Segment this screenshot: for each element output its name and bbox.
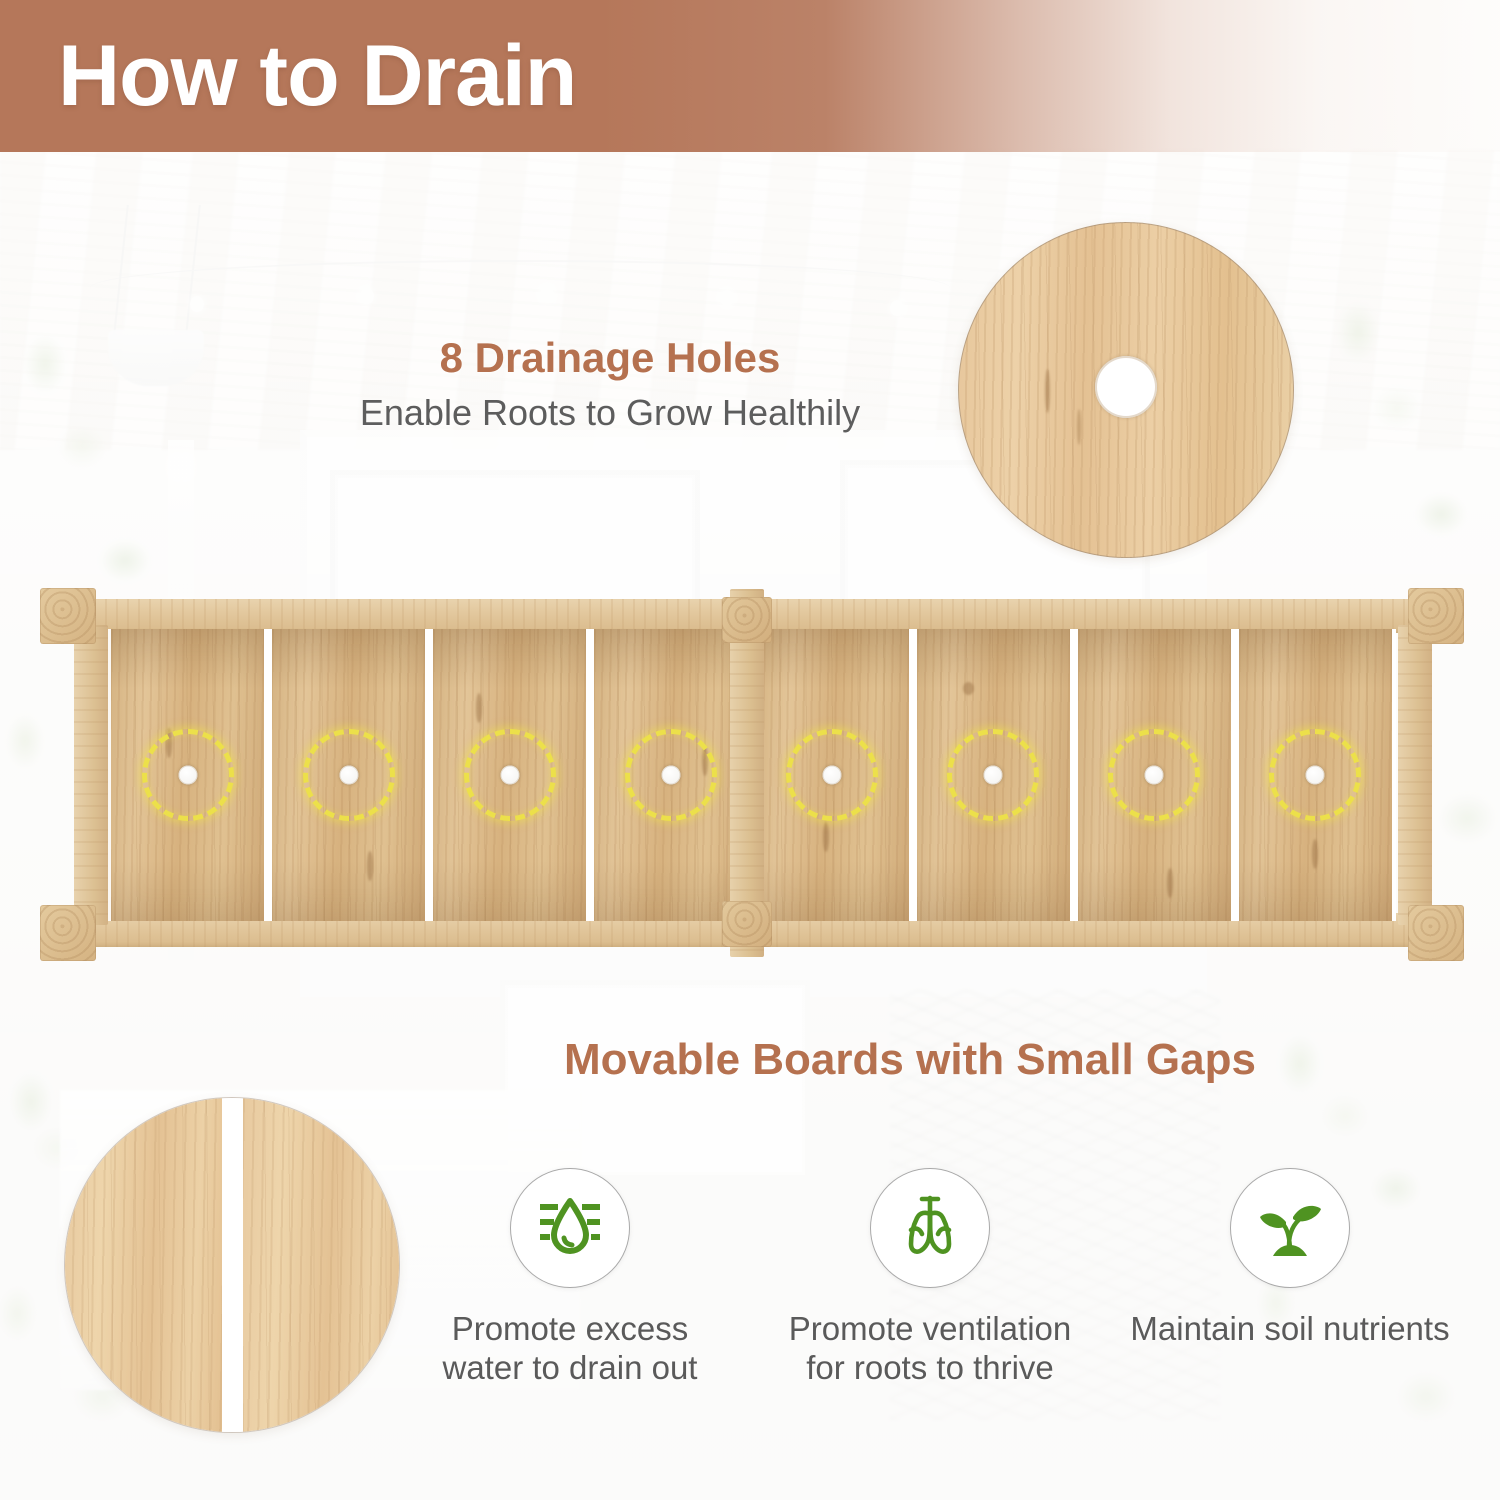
planter-board bbox=[268, 629, 429, 921]
benefit-item-drain: Promote excess water to drain out bbox=[390, 1168, 750, 1388]
planter-corner-post bbox=[40, 588, 96, 644]
drain-hole-marker bbox=[142, 729, 234, 821]
benefit-label-line2: water to drain out bbox=[443, 1349, 698, 1386]
wood-knot bbox=[963, 682, 974, 695]
board-shade bbox=[272, 861, 425, 921]
planter-center-cap bbox=[722, 901, 772, 947]
planter-board bbox=[590, 629, 751, 921]
wood-knot bbox=[367, 851, 373, 881]
page-title: How to Drain bbox=[58, 33, 576, 119]
board-shade bbox=[433, 629, 586, 689]
board-shade bbox=[756, 629, 909, 689]
wood-knot bbox=[1077, 409, 1081, 445]
drainage-subheading: Enable Roots to Grow Healthily bbox=[300, 393, 920, 433]
planter-corner-post bbox=[1408, 905, 1464, 961]
drain-hole-marker bbox=[303, 729, 395, 821]
planter-board bbox=[108, 629, 268, 921]
benefit-item-ventilation: Promote ventilation for roots to thrive bbox=[750, 1168, 1110, 1388]
infographic-page: How to Drain 8 Drainage Holes Enable Roo… bbox=[0, 0, 1500, 1500]
board-shade bbox=[111, 861, 264, 921]
drainage-heading: 8 Drainage Holes bbox=[300, 335, 920, 381]
planter-stile-right bbox=[1398, 625, 1432, 925]
drainage-text-block: 8 Drainage Holes Enable Roots to Grow He… bbox=[300, 335, 920, 433]
drain-hole-marker bbox=[1108, 729, 1200, 821]
planter-board bbox=[1074, 629, 1235, 921]
board-gap-closeup-circle bbox=[64, 1097, 400, 1433]
benefit-label-line2: for roots to thrive bbox=[806, 1349, 1054, 1386]
benefit-label-ventilation: Promote ventilation for roots to thrive bbox=[789, 1310, 1071, 1388]
drain-hole bbox=[1306, 766, 1325, 785]
planter-corner-post bbox=[1408, 588, 1464, 644]
benefit-label-line1: Promote ventilation bbox=[789, 1310, 1071, 1347]
planter-stile-left bbox=[74, 625, 108, 925]
planter-board bbox=[913, 629, 1074, 921]
drain-hole-marker bbox=[464, 729, 556, 821]
drainage-hole-closeup-circle bbox=[958, 222, 1294, 558]
drain-hole bbox=[500, 766, 519, 785]
board-shade bbox=[272, 629, 425, 689]
board-shade bbox=[1239, 861, 1392, 921]
planter-corner-post bbox=[40, 905, 96, 961]
planter-center-cap bbox=[722, 597, 772, 643]
drain-hole-marker bbox=[947, 729, 1039, 821]
benefit-label-line1: Maintain soil nutrients bbox=[1130, 1310, 1449, 1347]
wood-knot bbox=[476, 693, 482, 723]
benefits-row: Promote excess water to drain out bbox=[390, 1168, 1490, 1388]
benefit-icon-circle bbox=[870, 1168, 990, 1288]
drain-hole bbox=[1145, 766, 1164, 785]
benefit-icon-circle bbox=[510, 1168, 630, 1288]
planter-board bbox=[1235, 629, 1396, 921]
benefit-icon-circle bbox=[1230, 1168, 1350, 1288]
drain-hole-marker bbox=[1269, 729, 1361, 821]
benefit-label-nutrients: Maintain soil nutrients bbox=[1130, 1310, 1449, 1349]
lungs-ventilation-icon bbox=[892, 1192, 968, 1264]
wood-knot bbox=[823, 822, 829, 852]
planter-board bbox=[752, 629, 913, 921]
drain-hole-marker bbox=[625, 729, 717, 821]
water-drop-drain-icon bbox=[534, 1192, 606, 1264]
benefit-label-line1: Promote excess bbox=[452, 1310, 689, 1347]
drainage-hole bbox=[1095, 356, 1157, 418]
page-header-bar: How to Drain bbox=[0, 0, 1500, 152]
board-shade bbox=[433, 861, 586, 921]
board-shade bbox=[111, 629, 264, 689]
sprout-seedling-icon bbox=[1253, 1195, 1327, 1261]
wood-knot bbox=[1045, 369, 1050, 413]
board-shade bbox=[1239, 629, 1392, 689]
raised-garden-bed bbox=[30, 583, 1473, 963]
movable-boards-heading: Movable Boards with Small Gaps bbox=[420, 1036, 1400, 1084]
benefit-item-nutrients: Maintain soil nutrients bbox=[1110, 1168, 1470, 1388]
board-shade bbox=[756, 861, 909, 921]
drain-hole-marker bbox=[786, 729, 878, 821]
wood-knot bbox=[1167, 868, 1173, 898]
planter-board bbox=[429, 629, 590, 921]
drain-hole bbox=[823, 766, 842, 785]
drain-hole bbox=[339, 766, 358, 785]
board-shade bbox=[917, 861, 1070, 921]
drain-hole bbox=[178, 766, 197, 785]
drain-hole bbox=[661, 766, 680, 785]
board-shade bbox=[1078, 629, 1231, 689]
board-shade bbox=[917, 629, 1070, 689]
drain-hole bbox=[984, 766, 1003, 785]
board-shade bbox=[1078, 861, 1231, 921]
benefit-label-drain: Promote excess water to drain out bbox=[443, 1310, 698, 1388]
board-gap bbox=[222, 1098, 243, 1432]
